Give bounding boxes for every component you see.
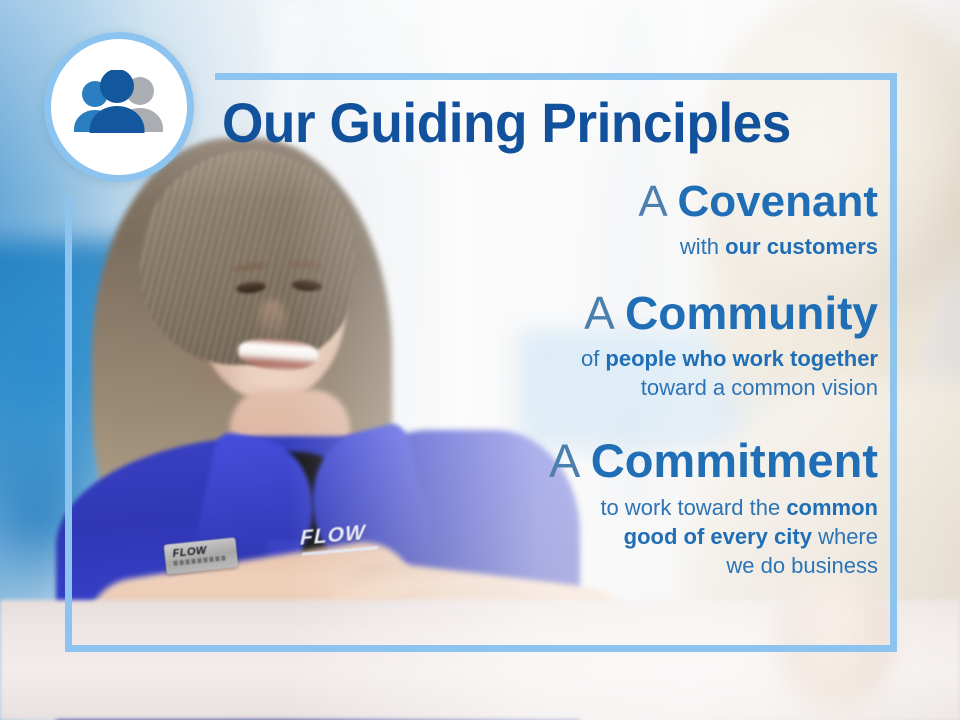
frame-border-left: [65, 196, 72, 652]
principle-covenant-article: A: [638, 177, 665, 226]
subtext-emphasis: good of every city: [624, 524, 812, 549]
subtext-emphasis: common: [786, 495, 878, 520]
group-of-people-icon: [69, 70, 169, 144]
frame-border-bottom: [65, 645, 897, 652]
principle-community-subtext: of people who work togethertoward a comm…: [178, 344, 878, 402]
subtext-run: to work toward the: [600, 495, 786, 520]
principle-commitment-heading: A Commitment: [178, 436, 878, 487]
promo-graphic: FLOW FLOW O: [0, 0, 960, 720]
principle-covenant-heading: A Covenant: [178, 178, 878, 226]
principle-commitment-article: A: [549, 434, 578, 487]
principles-list: A Covenant with our customers A Communit…: [178, 178, 878, 584]
principle-community: A Community of people who work togethert…: [178, 289, 878, 403]
subtext-line: with our customers: [178, 232, 878, 261]
principle-covenant: A Covenant with our customers: [178, 178, 878, 261]
subtext-run: where: [812, 524, 878, 549]
frame-border-right: [890, 73, 897, 652]
subtext-line: toward a common vision: [178, 373, 878, 402]
subtext-line: good of every city where: [178, 522, 878, 551]
subtext-run: of: [581, 346, 605, 371]
page-title: Our Guiding Principles: [222, 95, 791, 151]
principle-commitment-word: Commitment: [591, 434, 878, 487]
subtext-run: we do business: [726, 553, 878, 578]
principle-commitment-subtext: to work toward the commongood of every c…: [178, 493, 878, 580]
principle-covenant-word: Covenant: [678, 177, 878, 226]
subtext-emphasis: people who work together: [605, 346, 878, 371]
subtext-line: we do business: [178, 551, 878, 580]
subtext-line: to work toward the common: [178, 493, 878, 522]
principle-community-heading: A Community: [178, 289, 878, 339]
principle-covenant-subtext: with our customers: [178, 232, 878, 261]
subtext-run: toward a common vision: [641, 375, 878, 400]
subtext-emphasis: our customers: [725, 234, 878, 259]
subtext-line: of people who work together: [178, 344, 878, 373]
guiding-principles-badge: [44, 32, 194, 182]
principle-community-word: Community: [625, 287, 878, 339]
subtext-run: with: [680, 234, 725, 259]
principle-commitment: A Commitment to work toward the commongo…: [178, 436, 878, 580]
principle-community-article: A: [584, 287, 612, 339]
frame-border-top: [215, 73, 897, 80]
